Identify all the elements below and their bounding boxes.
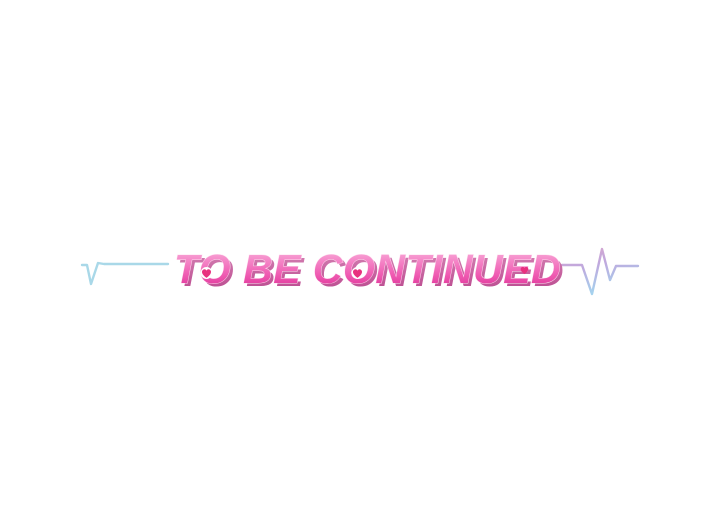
heartbeat-line-left-icon bbox=[80, 236, 170, 306]
to-be-continued-banner: TO BE CONTINUED TO BE CONTINUED bbox=[0, 236, 720, 306]
screen-canvas: TO BE CONTINUED TO BE CONTINUED bbox=[0, 0, 720, 528]
headline-text: TO BE CONTINUED bbox=[174, 246, 561, 292]
headline-artwork: TO BE CONTINUED TO BE CONTINUED bbox=[172, 236, 558, 306]
headline-wrapper: TO BE CONTINUED TO BE CONTINUED bbox=[172, 236, 558, 306]
heartbeat-line-right-icon bbox=[560, 236, 640, 306]
